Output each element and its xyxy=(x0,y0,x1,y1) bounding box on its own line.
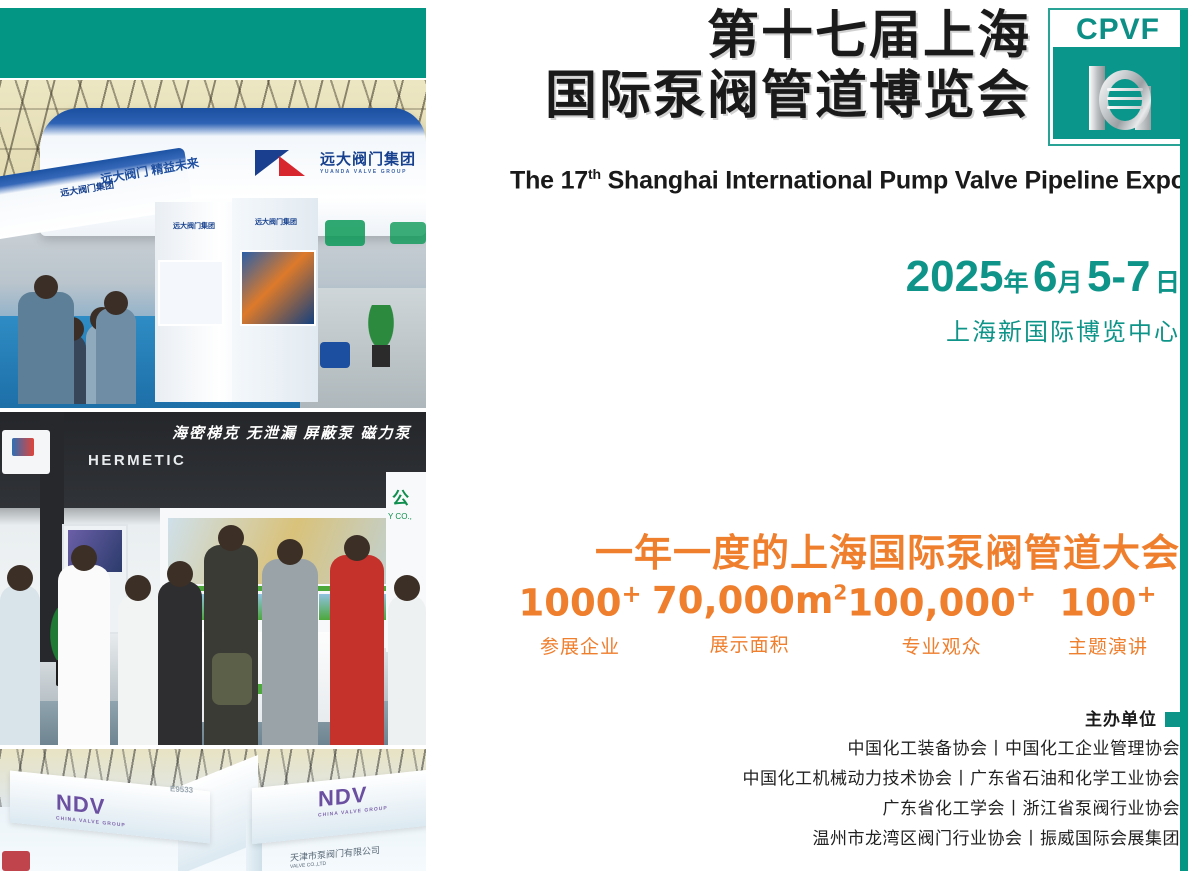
stat-value: 100,000+ xyxy=(847,582,1036,623)
title-line-2: 国际泵阀管道博览会 xyxy=(545,66,1031,126)
cpvf-logo-mark-icon xyxy=(1053,47,1183,139)
date-month: 6 xyxy=(1033,252,1057,301)
stat-value: 70,000m2 xyxy=(652,582,847,621)
photo-column: 远大阀门集团 YUANDA VALVE GROUP 远大阀门 精益未来 远大阀门… xyxy=(0,0,426,871)
photo-hermetic-pump-booth: HERMETIC 海密梯克 无泄漏 屏蔽泵 磁力泵 公 Y CO., etic xyxy=(0,412,426,745)
stat-label: 参展企业 xyxy=(508,632,652,659)
photo-ndv-valve-booth: NDV CHINA VALVE GROUP NDV CHINA VALVE GR… xyxy=(0,749,426,871)
olympic-poster xyxy=(2,430,50,474)
booth-display-screen xyxy=(240,250,316,326)
stat-label: 主题演讲 xyxy=(1036,632,1180,659)
visitor-figure xyxy=(58,565,110,745)
visitor-figure xyxy=(0,585,40,745)
visitor-figure xyxy=(388,595,426,745)
organizer-line: 广东省化工学会丨浙江省泵阀行业协会 xyxy=(440,794,1180,824)
event-slogan: 一年一度的上海国际泵阀管道大会 xyxy=(440,522,1180,577)
teal-square-marker xyxy=(1165,712,1180,727)
stats-row: 1000+ 参展企业 70,000m2 展示面积 100,000+ 专业观众 1… xyxy=(508,582,1180,659)
visitor-figure xyxy=(262,559,318,745)
stat-label: 专业观众 xyxy=(847,632,1036,659)
yuanda-brand-text: 远大阀门集团 YUANDA VALVE GROUP xyxy=(320,148,416,175)
teal-edge-strip xyxy=(1180,10,1188,871)
stat-item: 70,000m2 展示面积 xyxy=(652,582,847,657)
content-column: 第十七届上海 国际泵阀管道博览会 CPVF The 17th Shanghai … xyxy=(440,0,1188,871)
stand-number: E9533 xyxy=(170,784,193,795)
stat-item: 100,000+ 专业观众 xyxy=(847,582,1036,659)
booth-sign-b: 远大阀门集团 xyxy=(248,216,304,230)
booth-sign-a: 远大阀门集团 xyxy=(168,220,220,234)
page-title: 第十七届上海 国际泵阀管道博览会 xyxy=(545,6,1031,127)
visitor-figure xyxy=(118,595,158,745)
photo-yuanda-valve-booth: 远大阀门集团 YUANDA VALVE GROUP 远大阀门 精益未来 远大阀门… xyxy=(0,80,426,408)
teal-header-block xyxy=(0,8,426,78)
yuanda-arrow-logo-icon xyxy=(255,150,317,180)
stat-value: 100+ xyxy=(1036,582,1180,623)
date-year: 2025 xyxy=(906,252,1004,301)
decorative-plant xyxy=(360,305,402,365)
date-days: 5-7 xyxy=(1087,252,1151,301)
organizer-line: 中国化工机械动力技术协会丨广东省石油和化学工业协会 xyxy=(440,764,1180,794)
hermetic-banner-cn: 海密梯克 无泄漏 屏蔽泵 磁力泵 xyxy=(172,422,412,443)
visitor-figure xyxy=(330,555,384,745)
cpvf-logo-text: CPVF xyxy=(1053,13,1183,47)
stat-item: 100+ 主题演讲 xyxy=(1036,582,1180,659)
visitor-figure xyxy=(18,292,74,404)
visitor-figure xyxy=(158,581,202,745)
organizers-heading: 主办单位 xyxy=(440,705,1180,730)
organizer-line: 温州市龙湾区阀门行业协会丨振威国际会展集团 xyxy=(440,824,1180,854)
title-line-1: 第十七届上海 xyxy=(545,6,1031,66)
stat-value: 1000+ xyxy=(508,582,652,623)
expo-poster: 远大阀门集团 YUANDA VALVE GROUP 远大阀门 精益未来 远大阀门… xyxy=(0,0,1188,871)
hermetic-brand-text: HERMETIC xyxy=(88,452,186,469)
cpvf-logo: CPVF xyxy=(1048,8,1188,146)
stat-label: 展示面积 xyxy=(652,630,847,657)
page-subtitle-en: The 17th Shanghai International Pump Val… xyxy=(510,166,1180,195)
event-date: 2025年 6月 5-7 日 xyxy=(440,252,1180,302)
organizers-list: 中国化工装备协会丨中国化工企业管理协会 中国化工机械动力技术协会丨广东省石油和化… xyxy=(440,734,1180,854)
organizer-line: 中国化工装备协会丨中国化工企业管理协会 xyxy=(440,734,1180,764)
stat-item: 1000+ 参展企业 xyxy=(508,582,652,659)
visitor-figure xyxy=(96,308,136,404)
wave-lines-icon xyxy=(1107,86,1143,114)
event-venue: 上海新国际博览中心 xyxy=(440,312,1180,347)
visitor-figure xyxy=(204,545,258,745)
backpack xyxy=(212,653,252,705)
